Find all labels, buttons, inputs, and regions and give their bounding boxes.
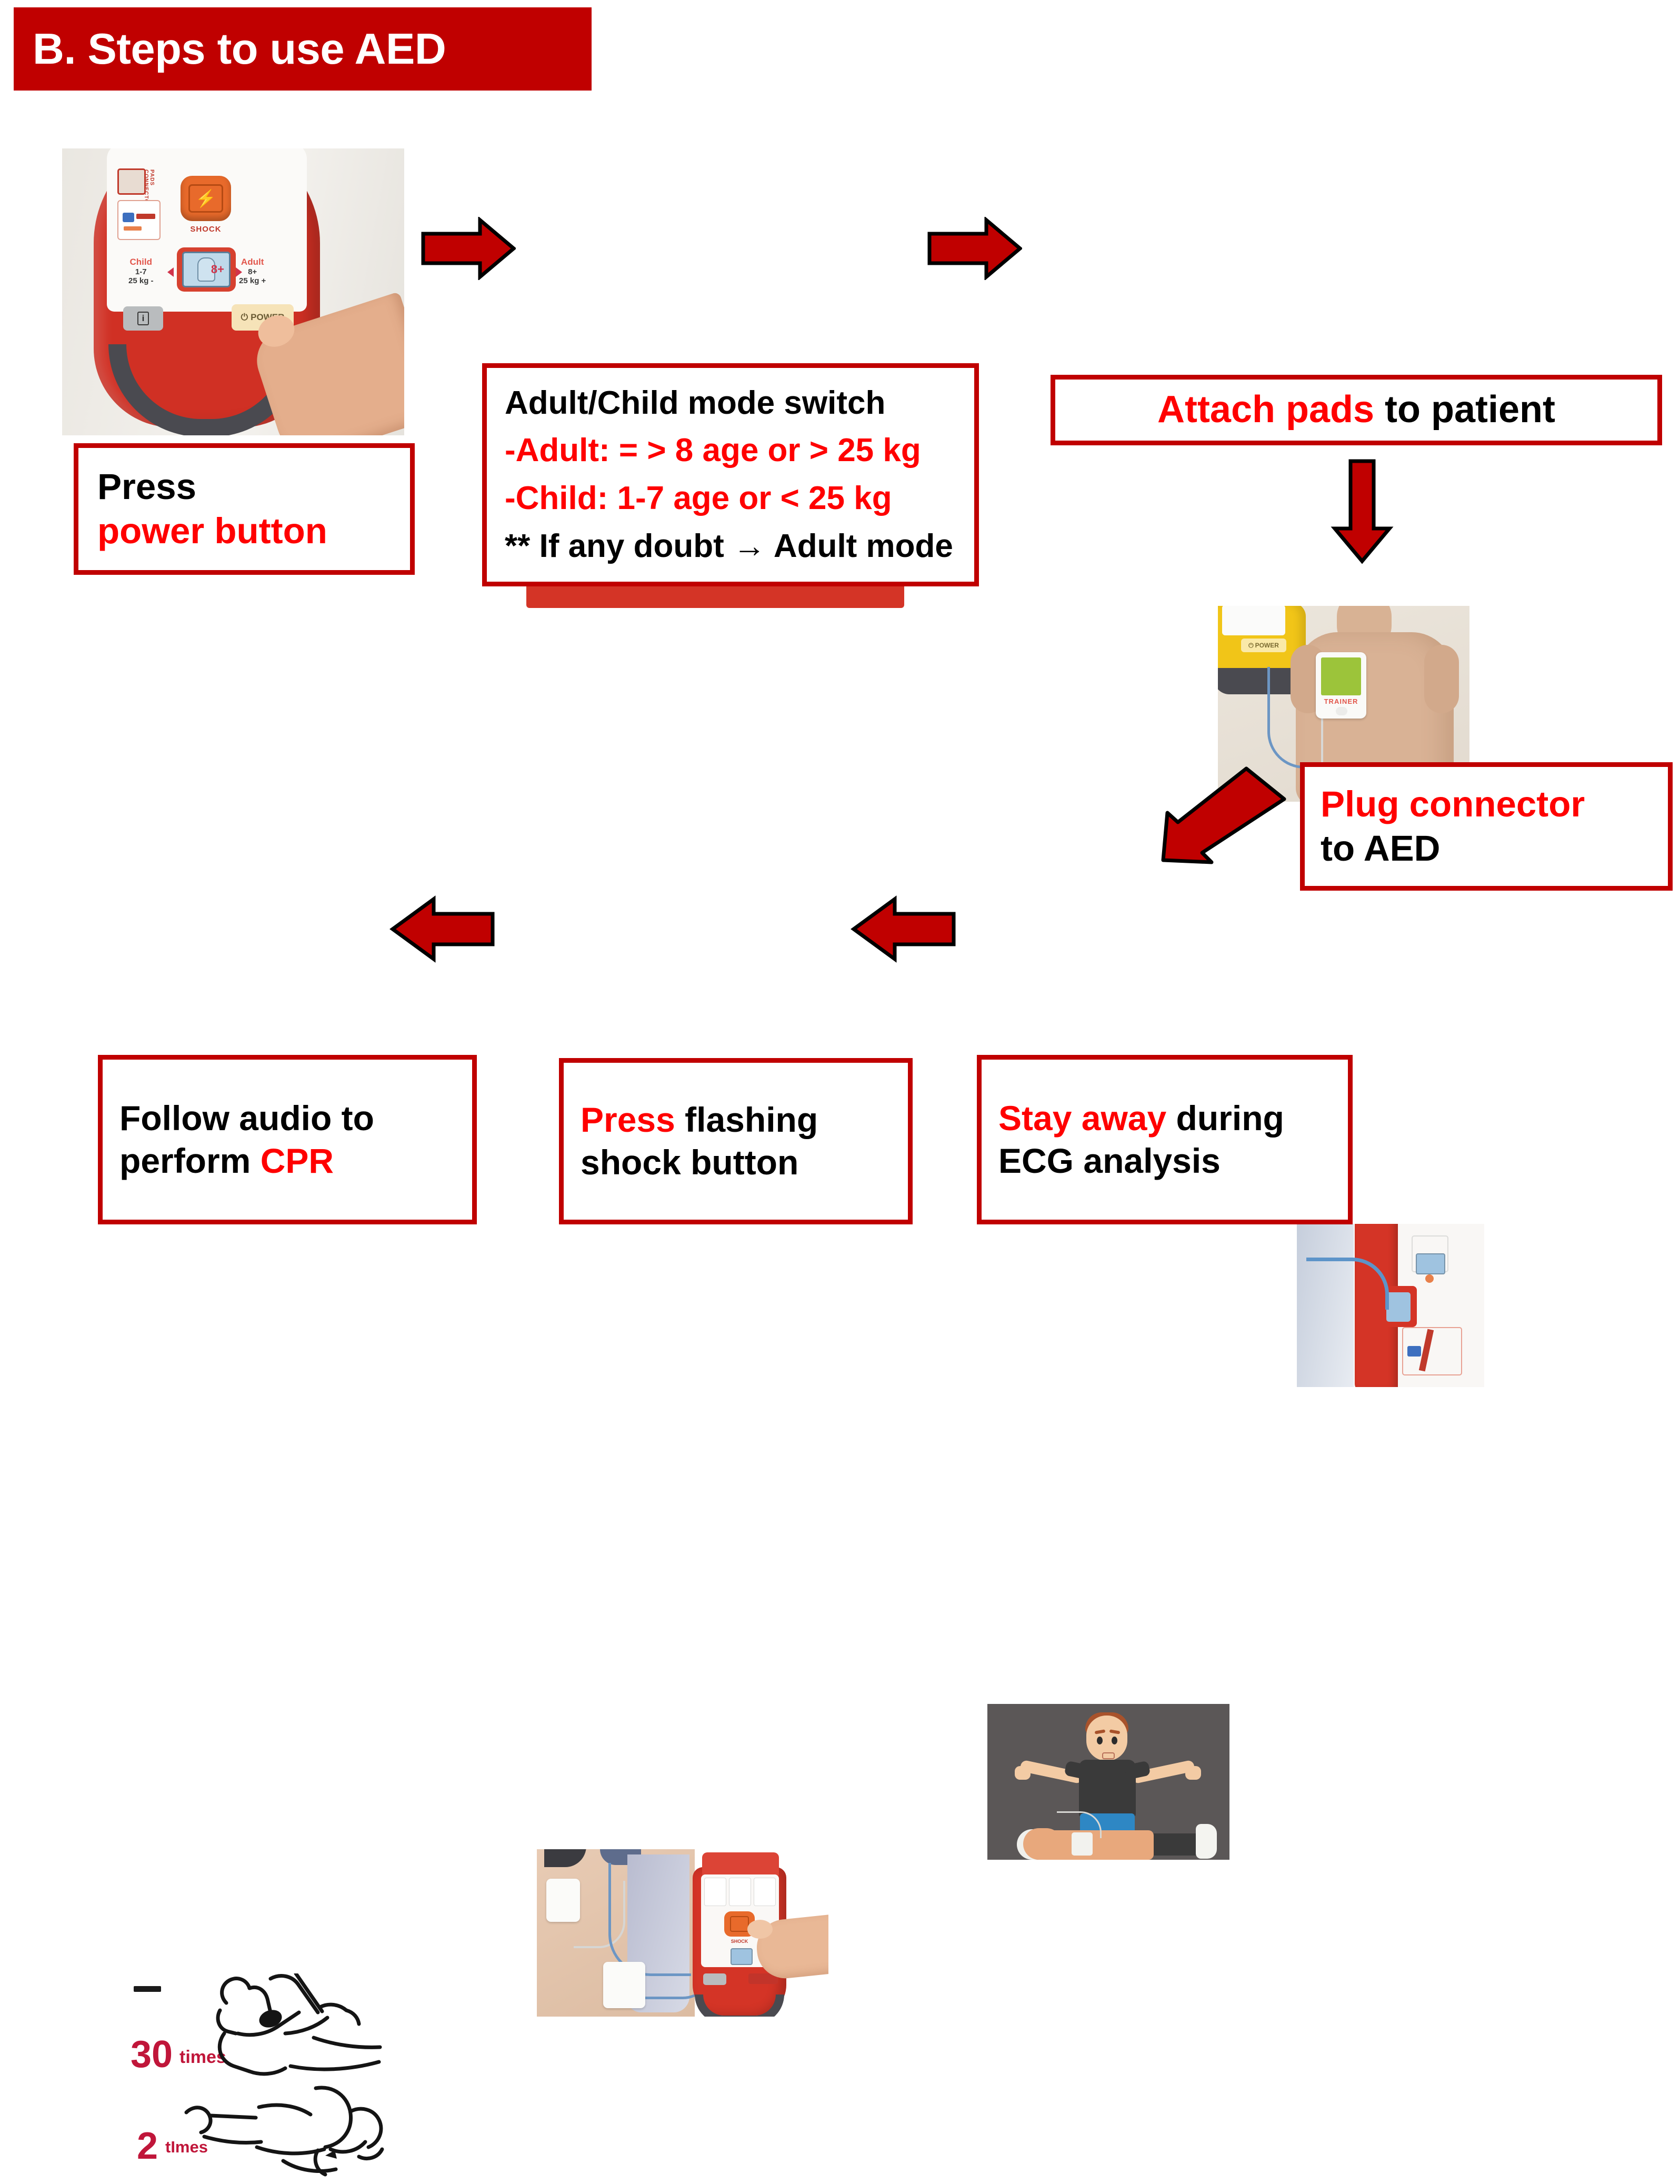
mode-lcd: 8+ — [182, 252, 231, 287]
connector-instruction-diagram — [117, 200, 161, 240]
mode-lcd — [731, 1948, 753, 1965]
connector-photo — [1297, 1224, 1484, 1387]
caption-plug-connector: Plug connector to AED — [1300, 762, 1673, 891]
caption-attach-pads: Attach pads to patient — [1051, 375, 1662, 445]
caption-rest: perform — [119, 1141, 261, 1180]
caption-emphasis: Stay away — [998, 1099, 1166, 1138]
adult-mode-label: Adult 8+ 25 kg + — [239, 257, 266, 285]
yellow-aed-panel — [1222, 606, 1285, 635]
press-shock-button-photo: SHOCK — [537, 1849, 828, 2017]
aed-open-lid — [702, 1852, 779, 1876]
caption-line-1: Plug connector — [1305, 782, 1668, 826]
dash-mark — [134, 1986, 161, 1992]
status-indicator — [1425, 1274, 1434, 1283]
plug-connector-photo-and-diagram — [1297, 1224, 1673, 1387]
child-heading: Child — [128, 257, 154, 267]
caption-adult-child-mode-note: Adult/Child mode switch -Adult: = > 8 ag… — [482, 363, 979, 586]
pad-graphic — [1321, 657, 1361, 695]
power-symbol-icon: ⏻ — [241, 312, 248, 323]
info-button[interactable] — [703, 1973, 726, 1985]
info-icon: i — [137, 312, 149, 325]
trainer-pad-label: TRAINER — [1316, 697, 1366, 705]
shock-button-label: SHOCK — [724, 1939, 755, 1944]
rescuer-mouth — [1102, 1752, 1115, 1759]
caption-line-2: perform CPR — [103, 1140, 472, 1182]
aed-carry-handle — [695, 1994, 784, 2017]
defib-pad-upper-right: TRAINER — [1316, 652, 1366, 719]
pad-connector-nub — [1336, 707, 1347, 715]
arrow-left-icon-1 — [389, 895, 495, 963]
patient-head — [1023, 1828, 1062, 1860]
caption-line-1: Follow audio to — [103, 1097, 472, 1140]
mode-note-heading: Adult/Child mode switch — [487, 380, 974, 427]
caption-emphasis: Press — [581, 1100, 675, 1139]
arrow-down-icon — [1331, 459, 1394, 564]
adult-weight: 25 kg + — [239, 276, 266, 285]
caption-rest: during — [1166, 1099, 1284, 1138]
panel-lcd — [1416, 1253, 1445, 1274]
caption-line-2: power button — [78, 509, 410, 553]
caption-line-1: Press flashing — [564, 1099, 908, 1141]
fingertip — [747, 1920, 773, 1939]
cpr-30-2-line-drawing: 30 times 2 tImes — [119, 1968, 387, 2184]
caption-emphasis: CPR — [261, 1141, 334, 1180]
arrow-right-icon-1 — [421, 217, 516, 280]
compressions-count: 30 — [131, 2036, 173, 2073]
caption-line-1: Stay away during — [982, 1097, 1348, 1140]
chest-compression-drawing — [193, 1973, 382, 2084]
child-age: 1-7 — [128, 267, 154, 276]
caption-emphasis: Attach pads — [1157, 388, 1374, 431]
adult-arrow-icon — [236, 267, 242, 277]
child-weight: 25 kg - — [128, 276, 154, 285]
breaths-count: 2 — [137, 2127, 158, 2165]
mode-note-child-line: -Child: 1-7 age or < 25 kg — [487, 475, 974, 523]
mode-screen: 8+ — [177, 247, 236, 292]
adult-age: 8+ — [239, 267, 266, 276]
shock-button-label: SHOCK — [181, 225, 231, 234]
adult-heading: Adult — [239, 257, 266, 267]
defib-pad-upper — [546, 1879, 580, 1922]
caption-line-1: Press — [78, 465, 410, 509]
yellow-power-label: POWER — [1255, 642, 1279, 649]
caption-line-2: ECG analysis — [982, 1140, 1348, 1182]
rescue-breath-drawing — [180, 2082, 386, 2182]
arrow-left-icon-2 — [851, 895, 956, 963]
stay-away-during-analysis-illustration — [987, 1704, 1229, 1860]
blue-connector-plug — [1386, 1292, 1411, 1322]
insert-arrow-icon — [124, 226, 142, 231]
slide-title-banner: B. Steps to use AED — [14, 7, 592, 91]
child-arrow-icon — [167, 267, 174, 277]
caption-line-1: Attach pads to patient — [1055, 387, 1657, 433]
connector-plug-icon — [123, 213, 134, 222]
caption-rest: to patient — [1374, 388, 1555, 431]
aed-device-power-button-photo: PADS CONNECTOR ⚡ SHOCK 8+ Child 1-7 25 k… — [62, 148, 404, 435]
caption-line-2: to AED — [1305, 826, 1668, 871]
child-mode-label: Child 1-7 25 kg - — [128, 257, 154, 285]
caption-press-power-button: Press power button — [74, 443, 415, 575]
connector-plug-icon — [1407, 1346, 1421, 1357]
caption-follow-audio-cpr: Follow audio to perform CPR — [98, 1055, 477, 1224]
mode-note-footnote: ** If any doubt → Adult mode — [487, 523, 974, 571]
caption-rest: flashing — [675, 1100, 818, 1139]
lightning-bolt-icon — [730, 1916, 749, 1932]
arrow-down-left-icon — [1154, 764, 1291, 870]
info-button[interactable]: i — [123, 306, 163, 331]
connector-socket-icon — [136, 214, 155, 219]
caption-press-shock-button: Press flashing shock button — [559, 1058, 913, 1224]
patient-shoe — [1196, 1824, 1217, 1859]
pads-connector-port — [117, 168, 146, 195]
rescuer-hand-left — [1015, 1766, 1031, 1780]
aed-instruction-icons — [704, 1878, 776, 1906]
page-title: B. Steps to use AED — [14, 24, 446, 74]
mode-screen-badge: 8+ — [211, 263, 224, 276]
rescuer-eye-left — [1097, 1737, 1103, 1744]
power-symbol-icon: ⏻ — [1248, 642, 1254, 650]
yellow-aed-power-button[interactable]: ⏻ POWER — [1241, 639, 1286, 652]
lightning-bolt-icon: ⚡ — [188, 184, 223, 213]
caption-line-2: shock button — [564, 1141, 908, 1184]
arrow-right-icon-2 — [927, 217, 1022, 280]
defib-pad-lower — [603, 1962, 645, 2008]
shock-button[interactable]: ⚡ — [181, 176, 231, 221]
rescuer-hand-right — [1185, 1766, 1201, 1780]
mode-note-adult-line: -Adult: = > 8 age or > 25 kg — [487, 427, 974, 475]
rescuer-eye-right — [1112, 1737, 1117, 1744]
caption-stay-away-ecg: Stay away during ECG analysis — [977, 1055, 1353, 1224]
manikin-shoulder-right — [1424, 645, 1459, 713]
